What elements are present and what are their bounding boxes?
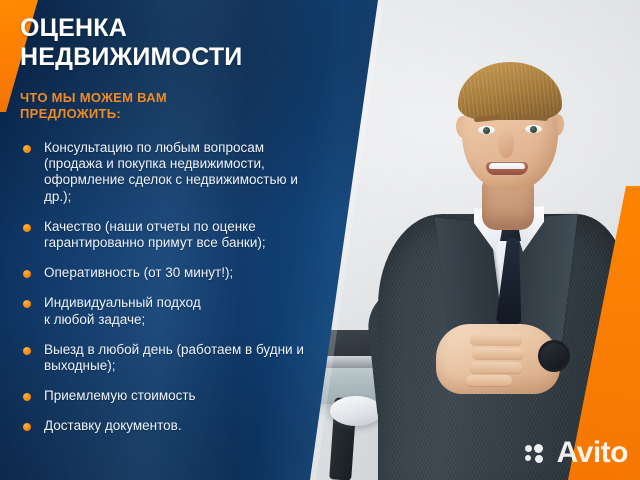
title-line-1: ОЦЕНКА — [20, 14, 127, 42]
list-item: Доставку документов. — [20, 418, 320, 434]
list-item-text: Выезд в любой день (работаем в будни и в… — [44, 342, 304, 373]
promo-poster: ОЦЕНКА НЕДВИЖИМОСТИ ЧТО МЫ МОЖЕМ ВАМ ПРЕ… — [0, 0, 640, 480]
hair — [458, 62, 562, 120]
finger — [466, 375, 512, 386]
finger — [472, 348, 524, 359]
bullet-dot-icon — [23, 347, 31, 355]
list-item-text: Индивидуальный подход к любой задаче; — [44, 295, 201, 326]
list-item-text: Качество (наши отчеты по оценке гарантир… — [44, 219, 266, 250]
list-item: Выезд в любой день (работаем в будни и в… — [20, 342, 320, 374]
finger — [470, 362, 522, 373]
list-item-text: Приемлемую стоимость — [44, 388, 196, 403]
list-item: Качество (наши отчеты по оценке гарантир… — [20, 219, 320, 251]
title-line-2: НЕДВИЖИМОСТИ — [20, 43, 242, 71]
eye-right — [525, 125, 542, 133]
list-item: Консультацию по любым вопросам (продажа … — [20, 140, 320, 205]
page-title: ОЦЕНКА НЕДВИЖИМОСТИ — [20, 14, 320, 72]
bullet-dot-icon — [23, 393, 31, 401]
subtitle: ЧТО МЫ МОЖЕМ ВАМ ПРЕДЛОЖИТЬ: — [20, 90, 240, 122]
list-item: Приемлемую стоимость — [20, 388, 320, 404]
offer-list: Консультацию по любым вопросам (продажа … — [20, 140, 320, 435]
list-item: Индивидуальный подход к любой задаче; — [20, 295, 320, 327]
bullet-dot-icon — [23, 423, 31, 431]
bullet-dot-icon — [23, 145, 31, 153]
text-content: ОЦЕНКА НЕДВИЖИМОСТИ ЧТО МЫ МОЖЕМ ВАМ ПРЕ… — [20, 14, 320, 435]
bullet-dot-icon — [23, 224, 31, 232]
list-item: Оперативность (от 30 минут!); — [20, 265, 320, 281]
wristwatch — [538, 340, 570, 372]
teeth — [489, 163, 525, 169]
list-item-text: Доставку документов. — [44, 418, 182, 433]
finger — [470, 334, 522, 345]
list-item-text: Консультацию по любым вопросам (продажа … — [44, 140, 298, 204]
bullet-dot-icon — [23, 300, 31, 308]
eye-left — [478, 126, 495, 134]
nose — [498, 132, 514, 158]
bullet-dot-icon — [23, 270, 31, 278]
smile — [486, 162, 528, 175]
list-item-text: Оперативность (от 30 минут!); — [44, 265, 233, 280]
